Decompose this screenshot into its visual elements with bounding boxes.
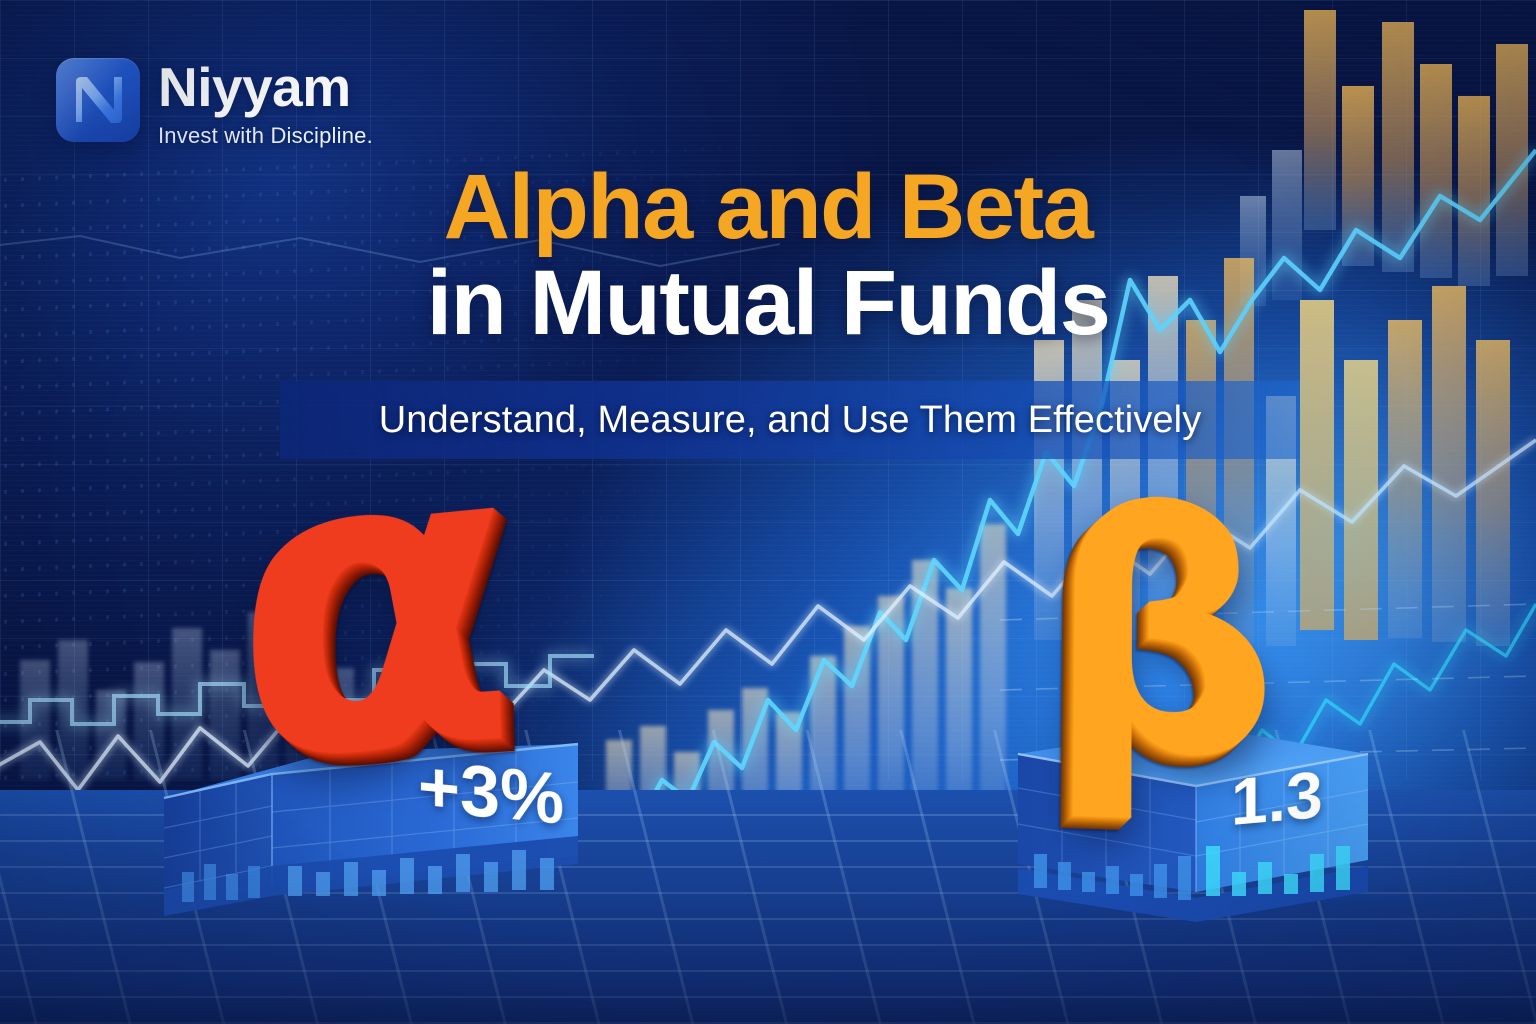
brand-name: Niyyam <box>158 60 373 115</box>
banner-canvas: Niyyam Invest with Discipline. Alpha and… <box>0 0 1536 1024</box>
subtitle-text: Understand, Measure, and Use Them Effect… <box>379 399 1202 442</box>
brand-text: Niyyam Invest with Discipline. <box>158 58 373 149</box>
brand-logo[interactable]: Niyyam Invest with Discipline. <box>56 58 373 149</box>
letter-n-logo-icon <box>56 58 140 142</box>
brand-tagline: Invest with Discipline. <box>158 123 373 149</box>
pedestal-alpha <box>160 716 590 916</box>
subtitle-banner: Understand, Measure, and Use Them Effect… <box>280 381 1300 459</box>
pedestal-beta <box>1000 726 1400 916</box>
